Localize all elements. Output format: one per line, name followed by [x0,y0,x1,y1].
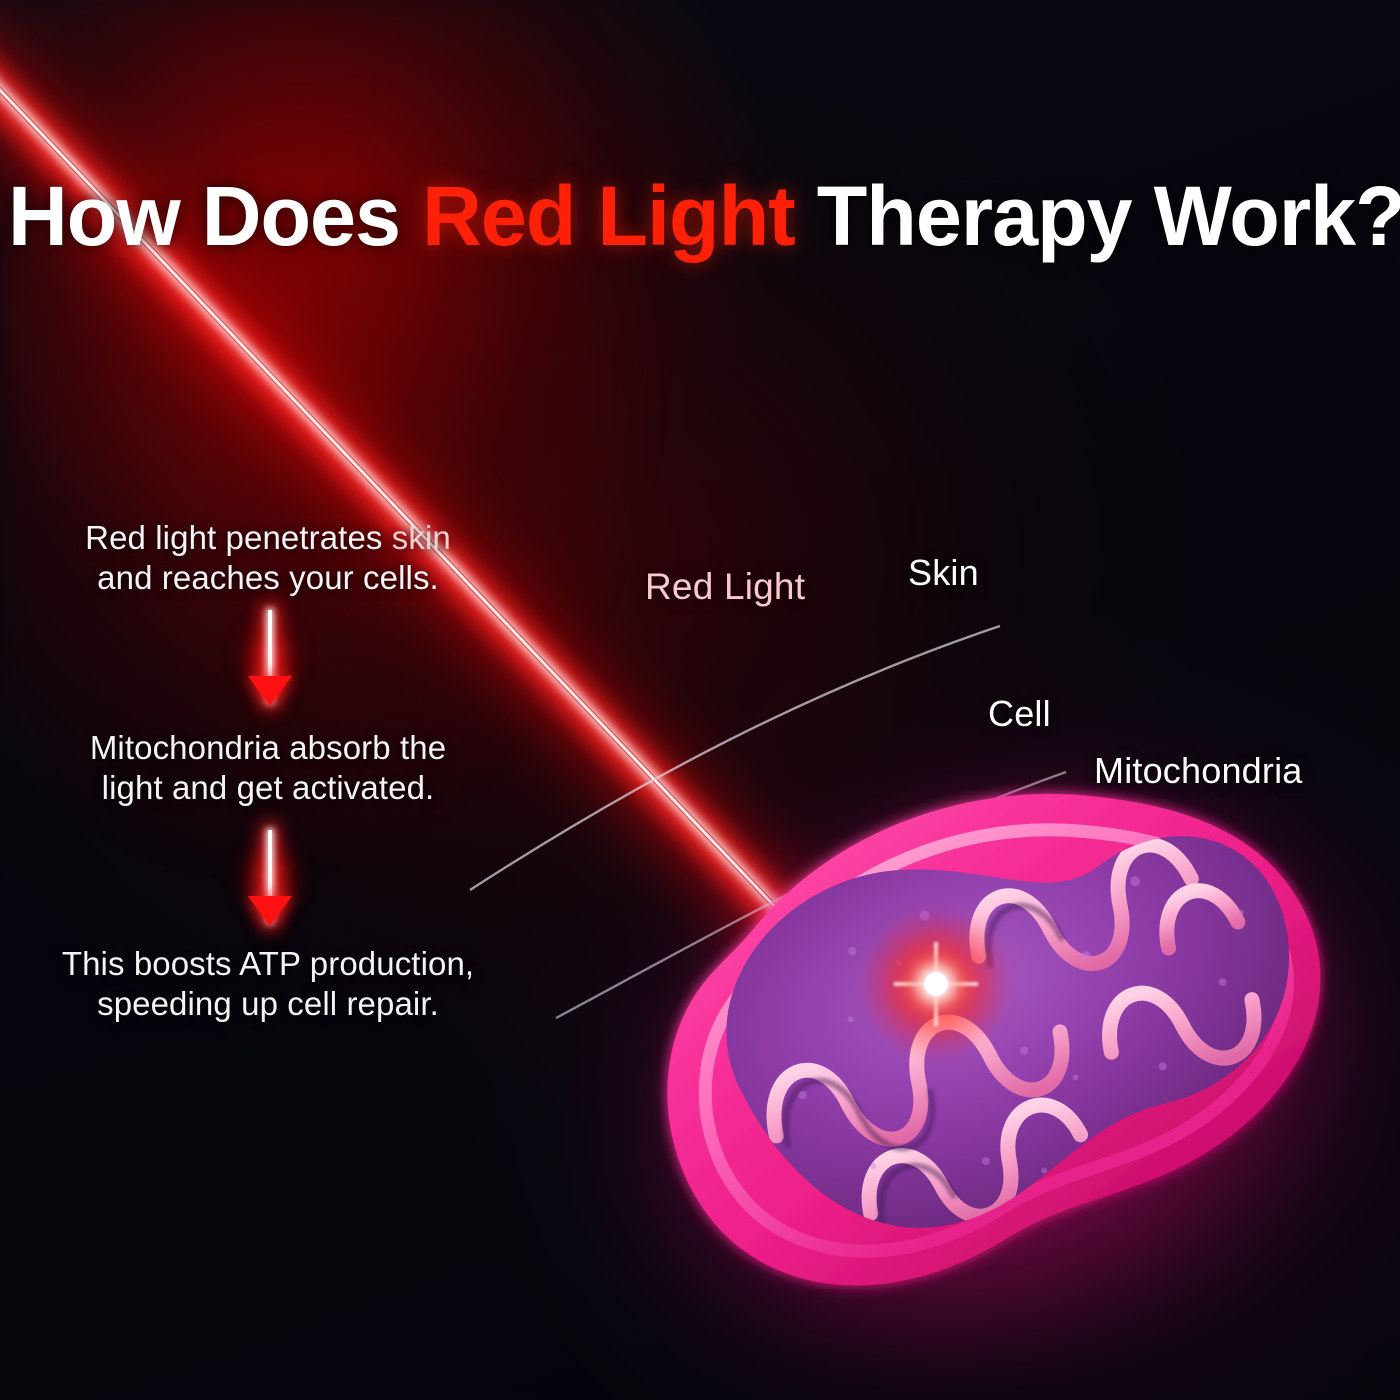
arrow-1-head [248,676,292,706]
step-1-line1a: Red light penetrates [85,519,392,556]
step-3-line2: speeding up cell repair. [97,985,439,1022]
arrow-2-head [248,896,292,926]
step-1-highlight: skin [392,519,451,556]
callout-label-cell: Cell [988,693,1051,735]
step-1-line2: and reaches your cells. [97,559,439,596]
mitochondria-illustration [596,762,1386,1372]
infographic-canvas: How Does Red Light Therapy Work? Red lig… [0,0,1400,1400]
title-part-2: Therapy Work? [795,169,1400,263]
page-title: How Does Red Light Therapy Work? [8,174,1377,258]
step-2-line1: Mitochondria absorb the [90,729,446,766]
step-2-text: Mitochondria absorb thelight and get act… [28,728,508,807]
mitochondria-svg [596,762,1386,1372]
title-accent: Red Light [422,169,795,263]
callout-label-red-light: Red Light [645,566,805,608]
title-part-1: How Does [8,169,422,263]
callout-label-skin: Skin [908,552,979,594]
callout-label-mitochondria: Mitochondria [1094,750,1303,792]
step-3-text: This boosts ATP production,speeding up c… [18,944,518,1023]
step-2-line2: light and get activated. [102,769,435,806]
step-3-line1: This boosts ATP production, [62,945,474,982]
down-arrow-icon-1 [215,608,325,708]
step-1-text: Red light penetrates skinand reaches you… [30,518,506,597]
down-arrow-icon-2 [215,828,325,928]
